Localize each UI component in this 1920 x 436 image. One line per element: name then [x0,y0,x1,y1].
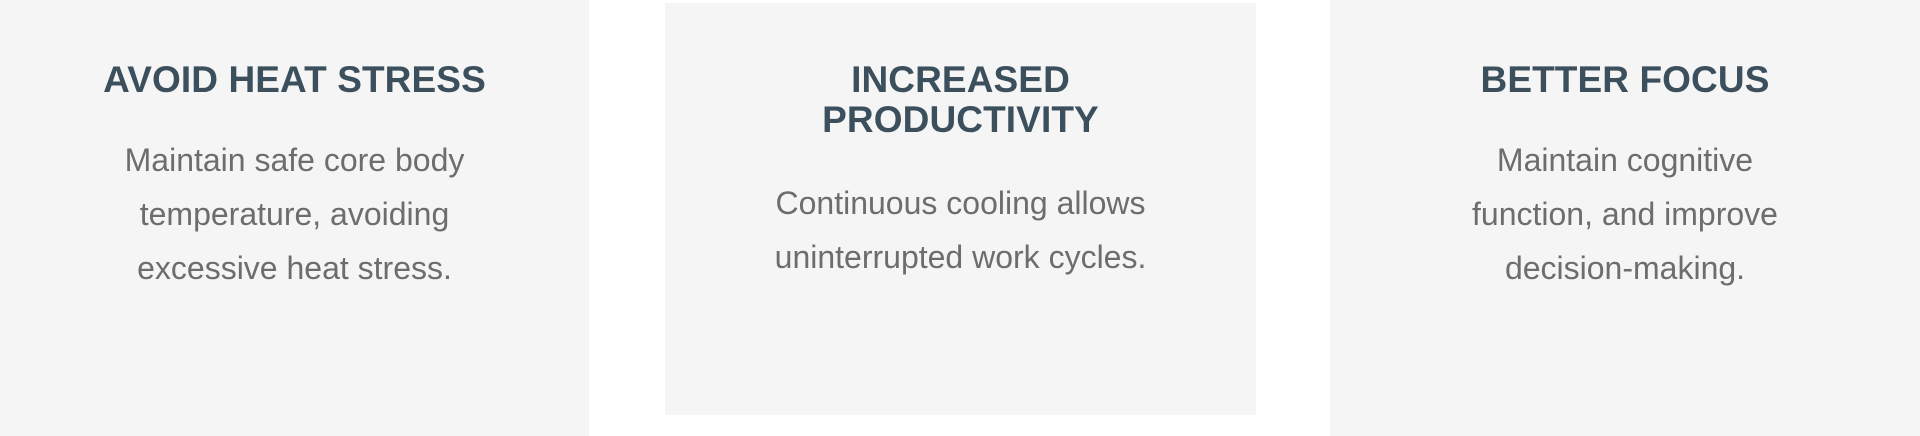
benefit-card-increased-productivity: INCREASED PRODUCTIVITY Continuous coolin… [665,3,1256,415]
benefit-card-description: Continuous cooling allows uninterrupted … [775,176,1147,284]
benefit-card-better-focus: BETTER FOCUS Maintain cognitive function… [1330,0,1920,436]
benefit-card-avoid-heat-stress: AVOID HEAT STRESS Maintain safe core bod… [0,0,589,436]
benefit-card-title: BETTER FOCUS [1481,60,1770,100]
benefit-card-description: Maintain cognitive function, and improve… [1472,133,1778,295]
benefit-card-title: AVOID HEAT STRESS [103,60,486,100]
benefit-card-title: INCREASED PRODUCTIVITY [822,60,1099,140]
benefits-card-row: AVOID HEAT STRESS Maintain safe core bod… [0,0,1920,436]
benefit-card-description: Maintain safe core body temperature, avo… [125,133,465,295]
